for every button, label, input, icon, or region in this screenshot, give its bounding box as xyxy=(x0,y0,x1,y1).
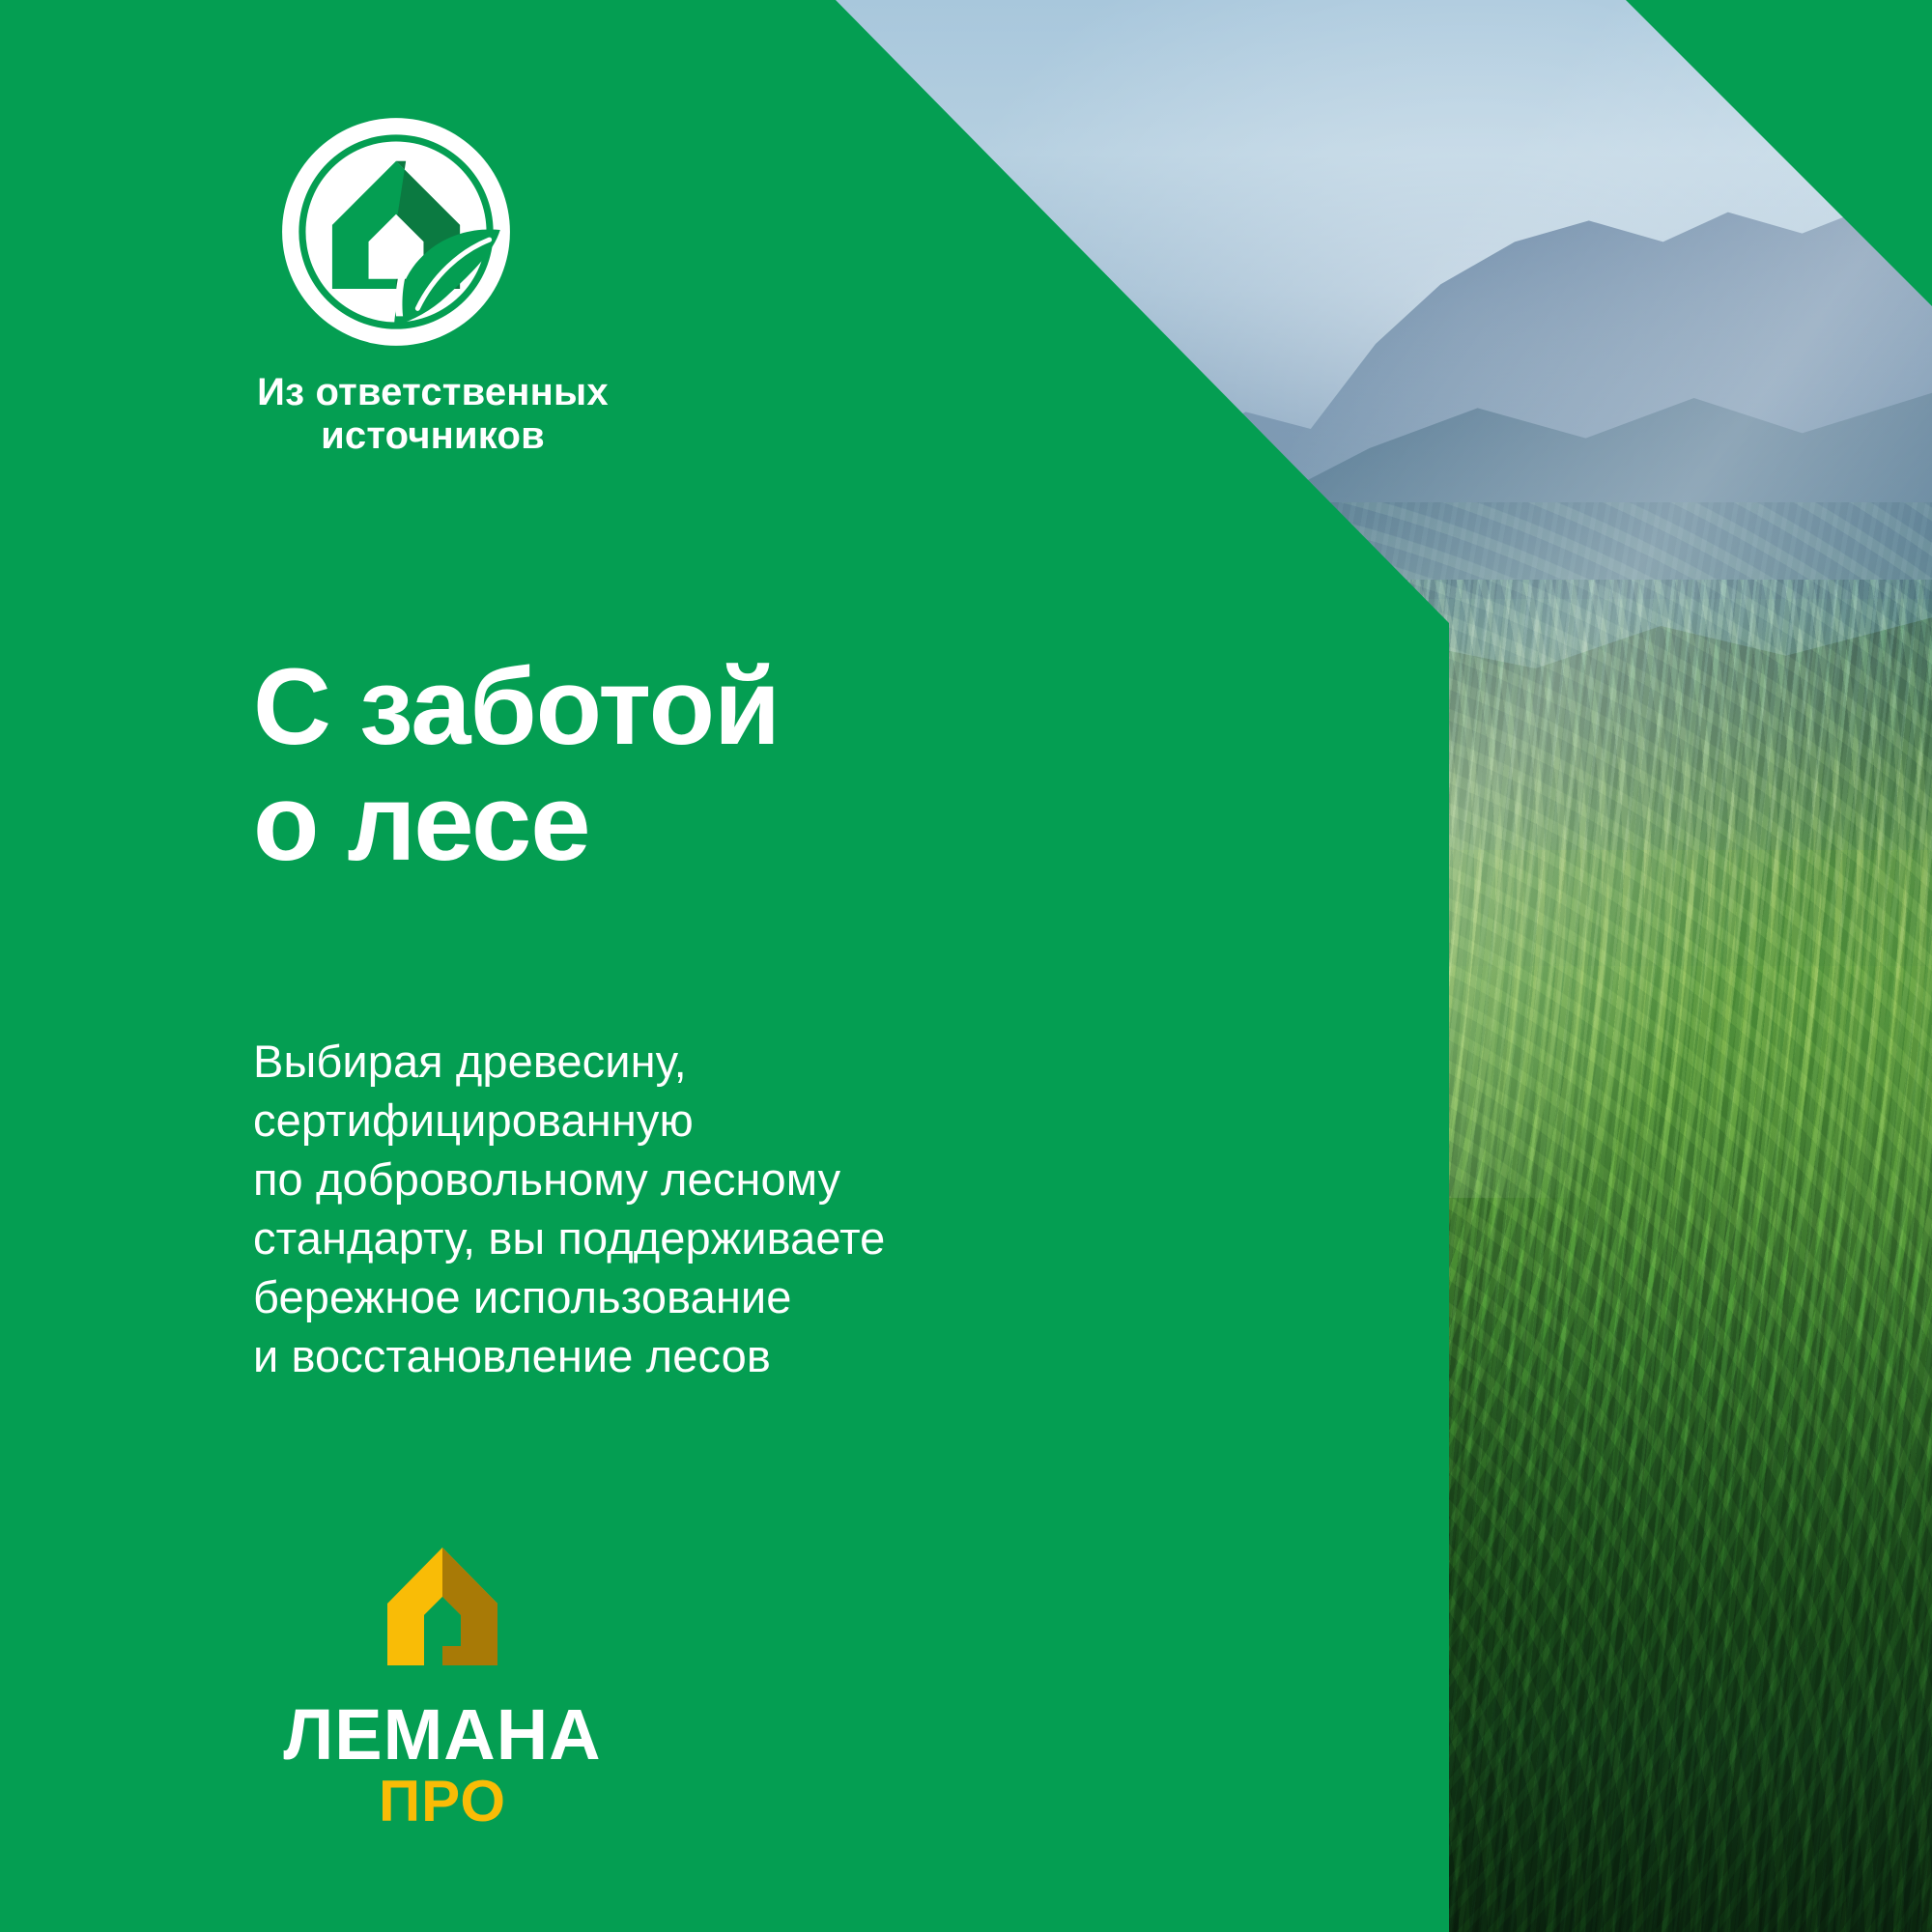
lemana-pro-suffix: ПРО xyxy=(249,1773,636,1831)
poster-canvas: Из ответственных источников С заботой о … xyxy=(0,0,1932,1932)
eco-badge: Из ответственных источников xyxy=(249,114,655,458)
body-paragraph: Выбирая древесину, сертифицированную по … xyxy=(253,1032,885,1386)
lemana-house-icon xyxy=(380,1544,505,1679)
lemana-wordmark: ЛЕМАНА xyxy=(249,1700,636,1769)
page-title: С заботой о лесе xyxy=(253,649,780,881)
poster-content: Из ответственных источников С заботой о … xyxy=(0,0,1932,1932)
eco-badge-caption: Из ответственных источников xyxy=(249,371,616,458)
lemana-pro-logo: ЛЕМАНА ПРО xyxy=(249,1544,636,1831)
house-in-circle-with-leaf-icon xyxy=(278,114,514,350)
